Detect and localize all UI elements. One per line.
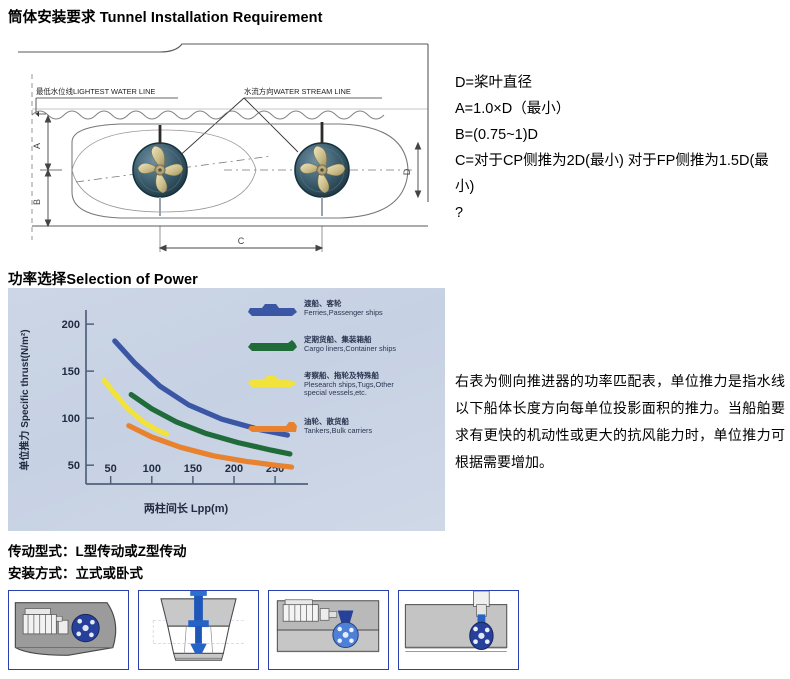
legend-en-3: Tankers,Bulk carriers	[304, 427, 372, 436]
legend-ship-icon-2	[248, 376, 296, 387]
y-axis-label: 单位推力 Specific thrust(N/m²)	[18, 329, 31, 470]
chart-description-paragraph: 右表为侧向推进器的功率匹配表，单位推力是指水线以下船体长度方向每单位投影面积的推…	[455, 368, 785, 476]
y-tick-label: 200	[62, 319, 80, 331]
waterline-text: 最低水位线LIGHTEST WATER LINE	[36, 87, 155, 96]
legend-item-tankers: 油轮、散货船 Tankers,Bulk carriers	[304, 418, 372, 435]
legend-ship-icon-3	[248, 422, 297, 432]
water-stream-line-label: 水流方向WATER STREAM LINE	[166, 87, 382, 172]
spec-line-query: ?	[455, 200, 785, 226]
x-tick-label: 200	[225, 463, 243, 475]
specific-thrust-chart: 5010015020050100150200250 单位推力 Specific …	[8, 288, 445, 531]
thumbnail-vertical-thruster-deck[interactable]	[398, 590, 519, 670]
thumbnail-engine-l-drive-hull[interactable]	[268, 590, 389, 670]
spec-line-b: B=(0.75~1)D	[455, 122, 785, 148]
page-title-selection-of-power: 功率选择Selection of Power	[8, 268, 198, 289]
legend-item-ferries: 渡船、客轮 Ferries,Passenger ships	[304, 300, 383, 317]
spec-line-d: D=桨叶直径	[455, 70, 785, 96]
y-tick-label: 100	[62, 413, 80, 425]
x-tick-label: 50	[105, 463, 117, 475]
legend-item-research: 考察船、拖轮及特殊船 Plesearch ships,Tugs,Other sp…	[304, 372, 394, 398]
dim-b-text: B	[32, 199, 42, 205]
tunnel-spec-list: D=桨叶直径 A=1.0×D（最小） B=(0.75~1)D C=对于CP侧推为…	[455, 70, 785, 226]
thruster-icon	[72, 614, 99, 641]
dim-d-text: D	[402, 168, 412, 175]
legend-en-2b: special vessels,etc.	[304, 389, 394, 398]
dimension-d: D	[402, 143, 421, 197]
dimension-a: A	[32, 116, 62, 170]
thruster-icon	[470, 622, 493, 649]
thruster-right	[295, 122, 349, 216]
drive-type-text: 传动型式：L型传动或Z型传动	[8, 540, 187, 560]
x-tick-label: 150	[184, 463, 202, 475]
legend-ship-icon-1	[248, 340, 297, 351]
spec-line-a: A=1.0×D（最小）	[455, 96, 785, 122]
x-tick-label: 100	[143, 463, 161, 475]
page-title-tunnel-installation: 筒体安装要求 Tunnel Installation Requirement	[8, 6, 323, 27]
dim-c-text: C	[238, 236, 245, 246]
y-tick-label: 150	[62, 366, 80, 378]
dimension-c: C	[160, 226, 322, 252]
mounting-type-text: 安装方式：立式或卧式	[8, 562, 143, 582]
legend-en-0: Ferries,Passenger ships	[304, 309, 383, 318]
thumbnail-horizontal-engine-hull[interactable]	[8, 590, 129, 670]
legend-ship-icon-0	[248, 304, 297, 316]
tunnel-installation-diagram: 最低水位线LIGHTEST WATER LINE 水流方向WATER STREA…	[10, 30, 435, 260]
dimension-b: B	[32, 170, 51, 226]
dim-a-text: A	[32, 143, 42, 149]
x-axis-label: 两柱间长 Lpp(m)	[144, 501, 229, 515]
legend-en-1: Cargo liners,Container ships	[304, 345, 396, 354]
series-curve-1	[131, 395, 290, 454]
installation-thumbnail-strip	[8, 590, 528, 672]
thruster-left	[133, 125, 187, 216]
thumbnail-vertical-drive-section[interactable]	[138, 590, 259, 670]
lightest-water-line-label: 最低水位线LIGHTEST WATER LINE	[36, 87, 178, 117]
spec-line-c: C=对于CP侧推为2D(最小) 对于FP侧推为1.5D(最小)	[455, 148, 785, 200]
streamline-text: 水流方向WATER STREAM LINE	[244, 87, 351, 96]
legend-item-cargo: 定期货船、集装箱船 Cargo liners,Container ships	[304, 336, 396, 353]
y-tick-label: 50	[68, 460, 80, 472]
